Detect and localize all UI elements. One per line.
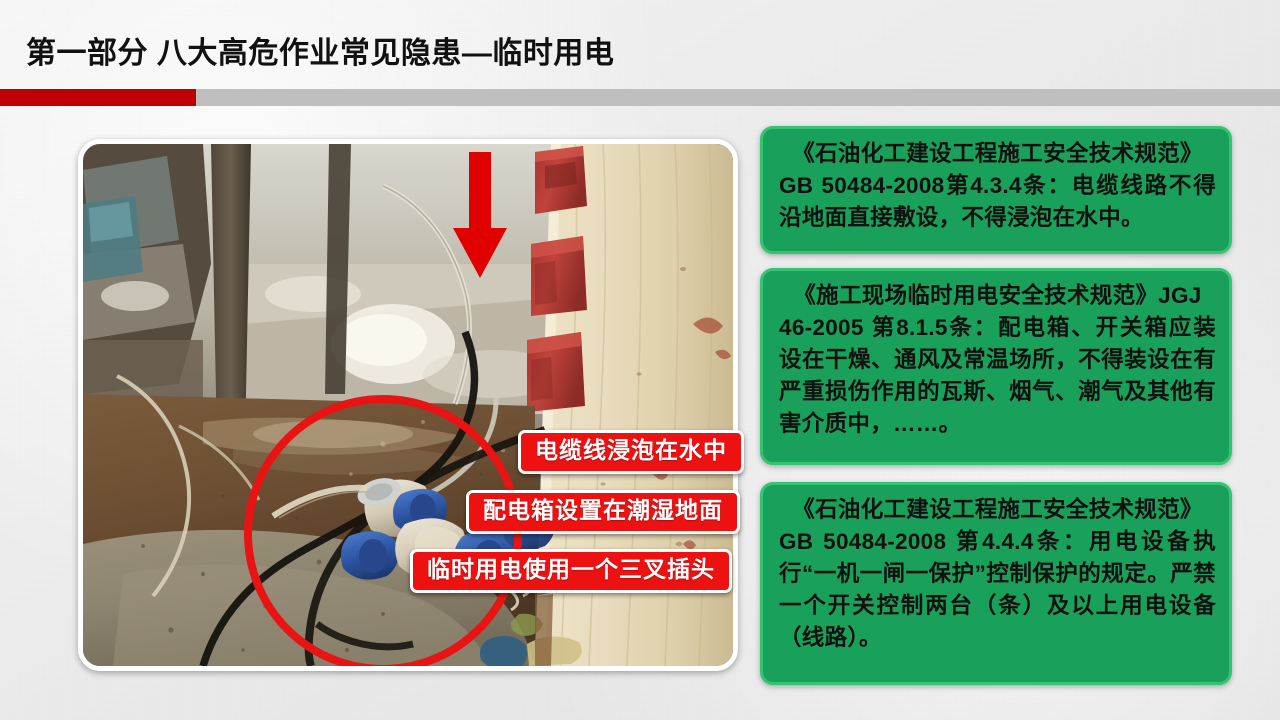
regulation-1-title: 《石油化工建设工程施工安全技术规范》 xyxy=(779,138,1216,170)
divider-red-segment xyxy=(0,89,196,106)
regulation-3-title: 《石油化工建设工程施工安全技术规范》 xyxy=(779,494,1216,526)
callout-three-prong-plug: 临时用电使用一个三叉插头 xyxy=(410,549,732,593)
regulation-box-1: 《石油化工建设工程施工安全技术规范》GB 50484-2008第4.3.4条：电… xyxy=(760,126,1232,254)
callout-panel-on-wet-ground: 配电箱设置在潮湿地面 xyxy=(466,490,740,534)
callout-cable-soaked: 电缆线浸泡在水中 xyxy=(518,430,744,474)
regulation-2-body: 46-2005 第8.1.5条：配电箱、开关箱应装设在干燥、通风及常温场所，不得… xyxy=(779,315,1216,436)
regulation-2-title: 《施工现场临时用电安全技术规范》JGJ xyxy=(779,280,1216,312)
regulation-3-body: GB 50484-2008 第4.4.4条：用电设备执行“一机一闸一保护”控制保… xyxy=(779,529,1216,650)
regulation-box-3: 《石油化工建设工程施工安全技术规范》GB 50484-2008 第4.4.4条：… xyxy=(760,482,1232,685)
regulation-box-2: 《施工现场临时用电安全技术规范》JGJ46-2005 第8.1.5条：配电箱、开… xyxy=(760,268,1232,465)
regulation-1-body: GB 50484-2008第4.3.4条：电缆线路不得沿地面直接敷设，不得浸泡在… xyxy=(779,173,1216,230)
slide-canvas: 第一部分 八大高危作业常见隐患—临时用电 xyxy=(0,0,1280,720)
title-divider xyxy=(0,89,1280,106)
divider-gray-segment xyxy=(196,89,1280,106)
page-title: 第一部分 八大高危作业常见隐患—临时用电 xyxy=(26,28,614,72)
